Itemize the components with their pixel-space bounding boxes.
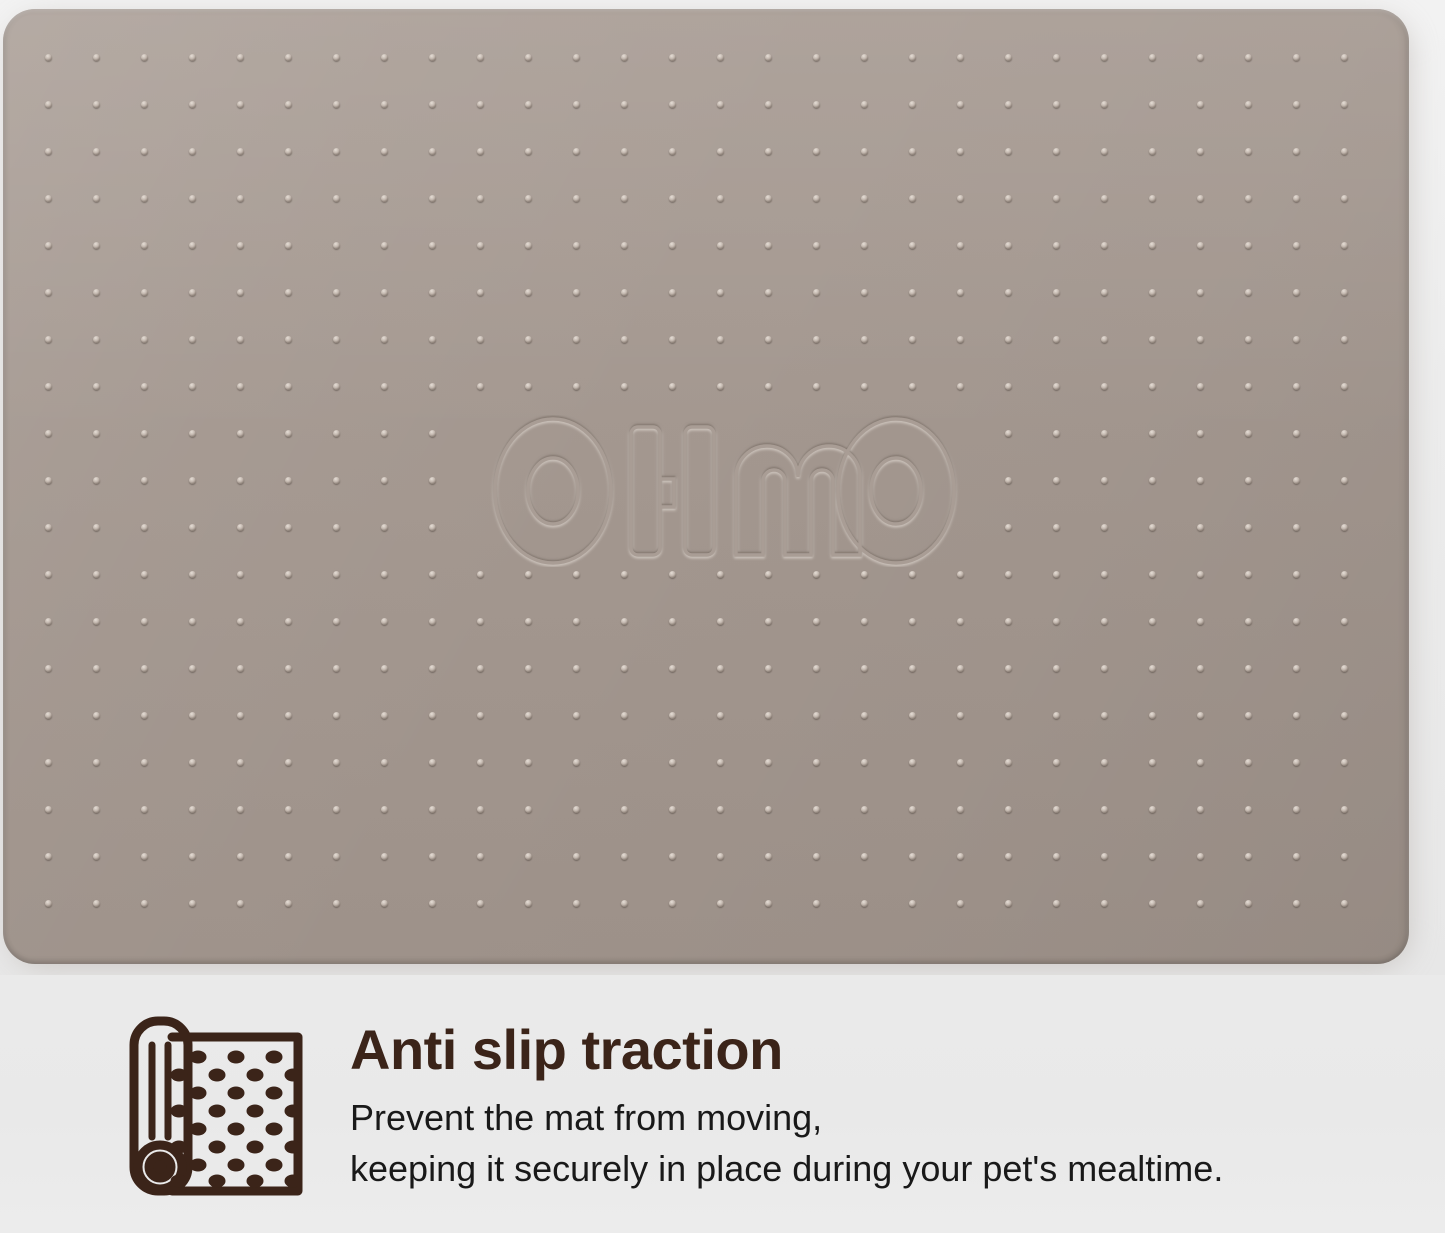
texture-dot [141,524,148,531]
texture-dot [1005,618,1012,625]
texture-dot [525,148,532,155]
texture-dot [429,524,436,531]
texture-dot [333,571,340,578]
texture-dot [717,289,724,296]
texture-dot [141,430,148,437]
texture-dot [333,477,340,484]
texture-dot [525,712,532,719]
texture-dot [957,101,964,108]
texture-dot [1341,806,1348,813]
texture-dot [1005,242,1012,249]
texture-dot [429,712,436,719]
texture-dot [669,54,676,61]
texture-dot [765,571,772,578]
texture-dot [237,195,244,202]
texture-dot [717,383,724,390]
texture-dot [237,477,244,484]
texture-dot [477,336,484,343]
texture-dot [1053,430,1060,437]
texture-dot [141,806,148,813]
texture-dot [1293,101,1300,108]
texture-dot [1053,383,1060,390]
texture-dot [45,477,52,484]
texture-dot [429,853,436,860]
texture-dot [333,524,340,531]
texture-dot [813,289,820,296]
texture-dot [861,900,868,907]
texture-dot [525,618,532,625]
texture-dot [429,148,436,155]
texture-dot [669,336,676,343]
texture-dot [477,101,484,108]
texture-dot [1197,383,1204,390]
texture-dot [1101,806,1108,813]
texture-dot [1293,759,1300,766]
texture-dot [285,618,292,625]
texture-dot [1005,336,1012,343]
texture-dot [285,759,292,766]
texture-dot [1197,336,1204,343]
texture-dot [525,900,532,907]
texture-dot [813,54,820,61]
texture-dot [189,289,196,296]
texture-dot [1101,571,1108,578]
texture-dot [333,148,340,155]
texture-dot [189,900,196,907]
texture-dot [909,759,916,766]
texture-dot [45,571,52,578]
texture-dot [717,806,724,813]
texture-dot [189,665,196,672]
texture-dot [45,148,52,155]
texture-dot [45,383,52,390]
texture-dot [861,336,868,343]
texture-dot [285,524,292,531]
texture-dot [1293,571,1300,578]
texture-dot [669,759,676,766]
texture-dot [189,195,196,202]
texture-dot [333,383,340,390]
texture-dot [1005,900,1012,907]
texture-dot [45,54,52,61]
texture-dot [861,54,868,61]
product-feature-image: Anti slip traction Prevent the mat from … [0,0,1445,1233]
texture-dot [1101,759,1108,766]
texture-dot [717,618,724,625]
texture-dot [285,195,292,202]
texture-dot [285,477,292,484]
texture-dot [1053,806,1060,813]
texture-dot [813,242,820,249]
texture-dot [1341,853,1348,860]
texture-dot [93,289,100,296]
texture-dot [669,712,676,719]
texture-dot [909,101,916,108]
texture-dot [93,242,100,249]
texture-dot [429,289,436,296]
texture-dot [237,430,244,437]
texture-dot [45,853,52,860]
texture-dot [1005,806,1012,813]
texture-dot [333,195,340,202]
texture-dot [1149,289,1156,296]
texture-dot [1341,195,1348,202]
texture-dot [1149,618,1156,625]
texture-dot [957,806,964,813]
texture-dot [189,242,196,249]
texture-dot [477,853,484,860]
texture-dot [525,195,532,202]
texture-dot [765,853,772,860]
texture-dot [1053,148,1060,155]
mat-dot-texture [3,9,1409,964]
texture-dot [477,242,484,249]
texture-dot [669,618,676,625]
texture-dot [813,383,820,390]
texture-dot [1101,853,1108,860]
texture-dot [1005,712,1012,719]
texture-dot [861,712,868,719]
texture-dot [765,242,772,249]
texture-dot [765,148,772,155]
texture-dot [237,524,244,531]
texture-dot [477,759,484,766]
texture-dot [957,148,964,155]
texture-dot [141,383,148,390]
texture-dot [381,242,388,249]
texture-dot [1245,336,1252,343]
texture-dot [189,54,196,61]
texture-dot [45,712,52,719]
texture-dot [237,383,244,390]
texture-dot [1293,430,1300,437]
texture-dot [477,148,484,155]
texture-dot [909,853,916,860]
texture-dot [381,571,388,578]
texture-dot [93,383,100,390]
texture-dot [1293,853,1300,860]
texture-dot [669,900,676,907]
texture-dot [573,900,580,907]
texture-dot [1053,665,1060,672]
texture-dot [333,430,340,437]
texture-dot [1341,54,1348,61]
texture-dot [909,289,916,296]
texture-dot [381,289,388,296]
feature-description-line-1: Prevent the mat from moving, [350,1092,1223,1143]
texture-dot [429,336,436,343]
texture-dot [477,806,484,813]
texture-dot [765,900,772,907]
texture-dot [333,618,340,625]
texture-dot [45,618,52,625]
texture-dot [861,759,868,766]
texture-dot [1341,289,1348,296]
texture-dot [189,759,196,766]
texture-dot [285,336,292,343]
texture-dot [1197,665,1204,672]
texture-dot [1101,665,1108,672]
texture-dot [813,712,820,719]
texture-dot [1005,101,1012,108]
texture-dot [861,665,868,672]
texture-dot [45,806,52,813]
texture-dot [93,853,100,860]
texture-dot [573,618,580,625]
texture-dot [1245,54,1252,61]
texture-dot [573,383,580,390]
texture-dot [1341,477,1348,484]
texture-dot [669,242,676,249]
texture-dot [285,853,292,860]
texture-dot [1341,618,1348,625]
texture-dot [1053,853,1060,860]
texture-dot [573,242,580,249]
texture-dot [141,148,148,155]
texture-dot [189,430,196,437]
mat-sheen [3,9,1409,448]
texture-dot [1149,383,1156,390]
texture-dot [765,54,772,61]
texture-dot [525,383,532,390]
texture-dot [381,806,388,813]
texture-dot [477,571,484,578]
texture-dot [1341,665,1348,672]
texture-dot [957,712,964,719]
texture-dot [765,289,772,296]
texture-dot [909,665,916,672]
texture-dot [93,806,100,813]
texture-dot [1245,101,1252,108]
texture-dot [1197,524,1204,531]
texture-dot [669,195,676,202]
texture-dot [333,806,340,813]
texture-dot [477,289,484,296]
texture-dot [237,289,244,296]
texture-dot [237,665,244,672]
texture-dot [1053,289,1060,296]
texture-dot [765,759,772,766]
texture-dot [1293,148,1300,155]
texture-dot [477,618,484,625]
texture-dot [333,712,340,719]
pet-feeding-mat [3,9,1409,964]
texture-dot [381,665,388,672]
texture-dot [333,665,340,672]
feature-text-block: Anti slip traction Prevent the mat from … [350,1011,1223,1194]
texture-dot [429,430,436,437]
texture-dot [45,900,52,907]
texture-dot [1293,383,1300,390]
texture-dot [429,383,436,390]
texture-dot [93,477,100,484]
texture-dot [1101,195,1108,202]
texture-dot [141,900,148,907]
texture-dot [237,571,244,578]
texture-dot [189,477,196,484]
texture-dot [1101,101,1108,108]
texture-dot [573,665,580,672]
texture-dot [1149,477,1156,484]
texture-dot [1149,571,1156,578]
texture-dot [1341,759,1348,766]
texture-dot [813,665,820,672]
mat-edge-highlight [3,9,1409,964]
texture-dot [1197,900,1204,907]
texture-dot [429,195,436,202]
texture-dot [189,806,196,813]
texture-dot [141,477,148,484]
texture-dot [573,853,580,860]
texture-dot [285,712,292,719]
texture-dot [525,336,532,343]
texture-dot [477,712,484,719]
texture-dot [477,900,484,907]
texture-dot [765,383,772,390]
texture-dot [1197,195,1204,202]
texture-dot [861,195,868,202]
texture-dot [1005,383,1012,390]
texture-dot [717,571,724,578]
texture-dot [525,759,532,766]
texture-dot [477,383,484,390]
texture-dot [1197,712,1204,719]
texture-dot [1197,853,1204,860]
texture-dot [1293,524,1300,531]
texture-dot [93,524,100,531]
texture-dot [813,759,820,766]
texture-dot [1101,618,1108,625]
texture-dot [1197,242,1204,249]
texture-dot [1005,571,1012,578]
texture-dot [573,148,580,155]
texture-dot [1341,148,1348,155]
texture-dot [813,148,820,155]
texture-dot [909,900,916,907]
texture-dot [189,571,196,578]
texture-dot [237,148,244,155]
texture-dot [429,806,436,813]
texture-dot [381,383,388,390]
texture-dot [381,54,388,61]
texture-dot [45,665,52,672]
texture-dot [1197,571,1204,578]
texture-dot [93,571,100,578]
texture-dot [333,900,340,907]
texture-dot [1149,759,1156,766]
texture-dot [1341,430,1348,437]
texture-dot [1293,336,1300,343]
texture-dot [1005,853,1012,860]
texture-dot [429,54,436,61]
texture-dot [573,289,580,296]
texture-dot [1197,101,1204,108]
texture-dot [621,618,628,625]
texture-dot [333,336,340,343]
texture-dot [765,618,772,625]
texture-dot [381,477,388,484]
feature-headline: Anti slip traction [350,1021,1223,1080]
texture-dot [1293,618,1300,625]
texture-dot [813,571,820,578]
texture-dot [93,54,100,61]
texture-dot [813,618,820,625]
texture-dot [1053,477,1060,484]
texture-dot [861,383,868,390]
texture-dot [765,101,772,108]
texture-dot [381,853,388,860]
texture-dot [669,806,676,813]
texture-dot [1101,712,1108,719]
texture-dot [573,712,580,719]
texture-dot [861,618,868,625]
texture-dot [93,148,100,155]
texture-dot [1341,712,1348,719]
texture-dot [141,289,148,296]
texture-dot [573,571,580,578]
texture-dot [333,54,340,61]
texture-dot [621,242,628,249]
texture-dot [621,101,628,108]
texture-dot [909,148,916,155]
texture-dot [1149,336,1156,343]
texture-dot [1197,148,1204,155]
texture-dot [621,383,628,390]
texture-dot [621,289,628,296]
texture-dot [1293,54,1300,61]
texture-dot [909,806,916,813]
texture-dot [573,54,580,61]
texture-dot [1053,618,1060,625]
texture-dot [1101,242,1108,249]
texture-dot [1245,712,1252,719]
texture-dot [1293,712,1300,719]
texture-dot [1245,853,1252,860]
texture-dot [813,336,820,343]
texture-dot [477,665,484,672]
texture-dot [1293,665,1300,672]
texture-dot [1245,383,1252,390]
texture-dot [1053,242,1060,249]
texture-dot [1245,524,1252,531]
texture-dot [1149,195,1156,202]
texture-dot [957,242,964,249]
texture-dot [1053,712,1060,719]
ohmo-brand-emboss [490,415,960,567]
texture-dot [237,101,244,108]
texture-dot [93,101,100,108]
texture-dot [861,853,868,860]
texture-dot [525,242,532,249]
texture-dot [1053,336,1060,343]
texture-dot [1053,195,1060,202]
texture-dot [1245,242,1252,249]
texture-dot [285,242,292,249]
texture-dot [813,900,820,907]
texture-dot [957,54,964,61]
texture-dot [189,524,196,531]
texture-dot [621,665,628,672]
texture-dot [381,759,388,766]
texture-dot [525,853,532,860]
texture-dot [141,665,148,672]
texture-dot [45,430,52,437]
texture-dot [189,383,196,390]
texture-dot [621,759,628,766]
texture-dot [93,759,100,766]
texture-dot [1245,148,1252,155]
texture-dot [909,54,916,61]
